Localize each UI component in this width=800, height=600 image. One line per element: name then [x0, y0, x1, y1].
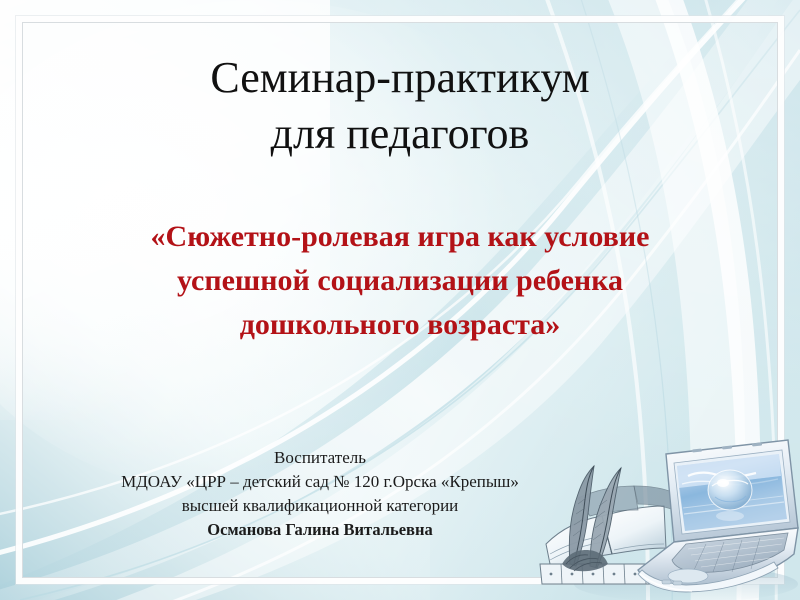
- author-institution: МДОАУ «ЦРР – детский сад № 120 г.Орска «…: [30, 470, 610, 494]
- slide-title: Семинар-практикум для педагогов: [0, 50, 800, 162]
- presentation-slide: Семинар-практикум для педагогов «Сюжетно…: [0, 0, 800, 600]
- slide-subtitle: «Сюжетно-ролевая игра как условие успешн…: [60, 215, 740, 347]
- author-name: Османова Галина Витальевна: [30, 518, 610, 542]
- author-qualification: высшей квалификационной категории: [30, 494, 610, 518]
- subtitle-line-3: дошкольного возраста»: [60, 303, 740, 347]
- title-line-2: для педагогов: [0, 106, 800, 162]
- title-line-1: Семинар-практикум: [0, 50, 800, 106]
- subtitle-line-1: «Сюжетно-ролевая игра как условие: [60, 215, 740, 259]
- author-role: Воспитатель: [30, 446, 610, 470]
- subtitle-line-2: успешной социализации ребенка: [60, 259, 740, 303]
- slide-author-block: Воспитатель МДОАУ «ЦРР – детский сад № 1…: [30, 446, 610, 542]
